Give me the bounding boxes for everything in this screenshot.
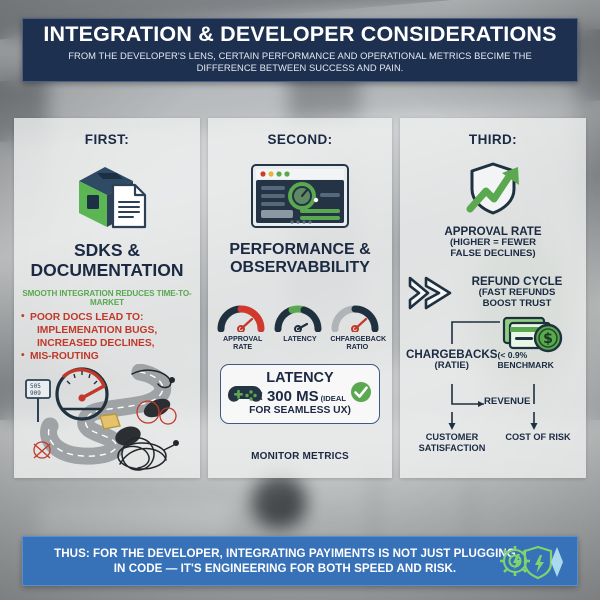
shield-growth-arrow-icon — [400, 159, 586, 221]
monitor-metrics-label: MONITOR METRICS — [208, 451, 392, 462]
step-label-third: THIRD: — [400, 132, 586, 147]
footer-banner: THUS: FOR THE DEVELOPER, INTEGRATING PAY… — [22, 536, 578, 586]
latency-gauge: LATENCY — [273, 300, 327, 352]
flow-node-customer-satisfaction: CUSTOMER SATISFACTION — [408, 432, 496, 453]
panel-third: THIRD: APPROVAL RATE (HIGHER = FEWER FAL… — [400, 118, 586, 478]
chargeback-ratio-gauge: CHFARGEBACK RATIO — [330, 300, 384, 352]
refund-cycle-line2: BOOST TRUST — [454, 299, 580, 310]
impact-flow-diagram: REVENUE CUSTOMER SATISFACTION COST OF RI… — [400, 382, 586, 468]
winding-road-speedometer-icon: 505909 — [20, 364, 198, 476]
latency-detail: FOR SEAMLESS UX) — [229, 405, 371, 416]
header-banner: INTEGRATION & DEVELOPER CONSIDERATIONS F… — [22, 18, 578, 82]
panel-second: SECOND: — [208, 118, 392, 478]
gauge-label: CHFARGEBACK RATIO — [330, 335, 384, 352]
gamepad-icon — [228, 382, 262, 406]
approval-rate-gauge: APPROVAL RATE — [216, 300, 270, 352]
latency-card: LATENCY < 300 MS (IDEAL FOR SEAMLESS UX) — [220, 364, 380, 424]
sdk-box-document-icon: SDK { } — [14, 161, 200, 235]
latency-qualifier: (IDEAL — [321, 394, 346, 405]
svg-text:505: 505 — [30, 383, 41, 390]
first-title: SDKS & DOCUMENTATION — [14, 241, 200, 280]
double-chevron-right-icon — [406, 274, 454, 312]
refund-cycle-block: REFUND CYCLE (FAST REFUNDS BOOST TRUST — [400, 274, 586, 312]
approval-rate-block: APPROVAL RATE (HIGHER = FEWER FALSE DECL… — [400, 225, 586, 260]
list-item: IMPLEMENATION BUGS, — [30, 325, 200, 338]
infographic-root: INTEGRATION & DEVELOPER CONSIDERATIONS F… — [0, 0, 600, 600]
dashboard-window-icon — [208, 163, 392, 231]
first-bullet-list: POOR DOCS LEAD TO: IMPLEMENATION BUGS, I… — [30, 312, 200, 364]
step-label-first: FIRST: — [14, 132, 200, 147]
svg-text:909: 909 — [30, 390, 41, 397]
step-label-second: SECOND: — [208, 132, 392, 147]
chargebacks-block: $ CHARGEBACKS (RATIE) (< 0.9% BENCHMARK — [400, 318, 586, 358]
first-subtitle: SMOOTH INTEGRATION REDUCES TIME-TO-MARKE… — [14, 289, 200, 307]
list-item: POOR DOCS LEAD TO: — [30, 312, 200, 325]
second-title: PERFORMANCE & OBSERVABBILITY — [208, 241, 392, 278]
gauge-group: APPROVAL RATE LATENCY — [208, 300, 392, 352]
panel-first: FIRST: SDK { } — [14, 118, 200, 478]
gauge-label: LATENCY — [273, 335, 327, 344]
page-title: INTEGRATION & DEVELOPER CONSIDERATIONS — [43, 23, 556, 46]
gear-shield-diamond-logo — [493, 543, 567, 581]
flow-node-revenue: REVENUE — [484, 396, 530, 407]
chargebacks-benchmark: (< 0.9% BENCHMARK — [497, 348, 580, 370]
gauge-label: APPROVAL RATE — [216, 335, 270, 352]
list-item: INCREASED DECLINES, — [30, 338, 200, 351]
page-subtitle: FROM THE DEVELOPER'S LENS, CERTAIN PERFO… — [37, 50, 563, 75]
chargebacks-heading: CHARGEBACKS — [406, 348, 497, 361]
chargebacks-sub: (RATIE) — [406, 361, 497, 372]
flow-node-cost-of-risk: COST OF RISK — [496, 432, 580, 443]
list-item: MIS-ROUTING — [30, 351, 200, 364]
green-check-icon — [350, 381, 372, 403]
approval-rate-line2: FALSE DECLINES) — [410, 249, 576, 260]
latency-value: < 300 MS — [254, 388, 319, 405]
